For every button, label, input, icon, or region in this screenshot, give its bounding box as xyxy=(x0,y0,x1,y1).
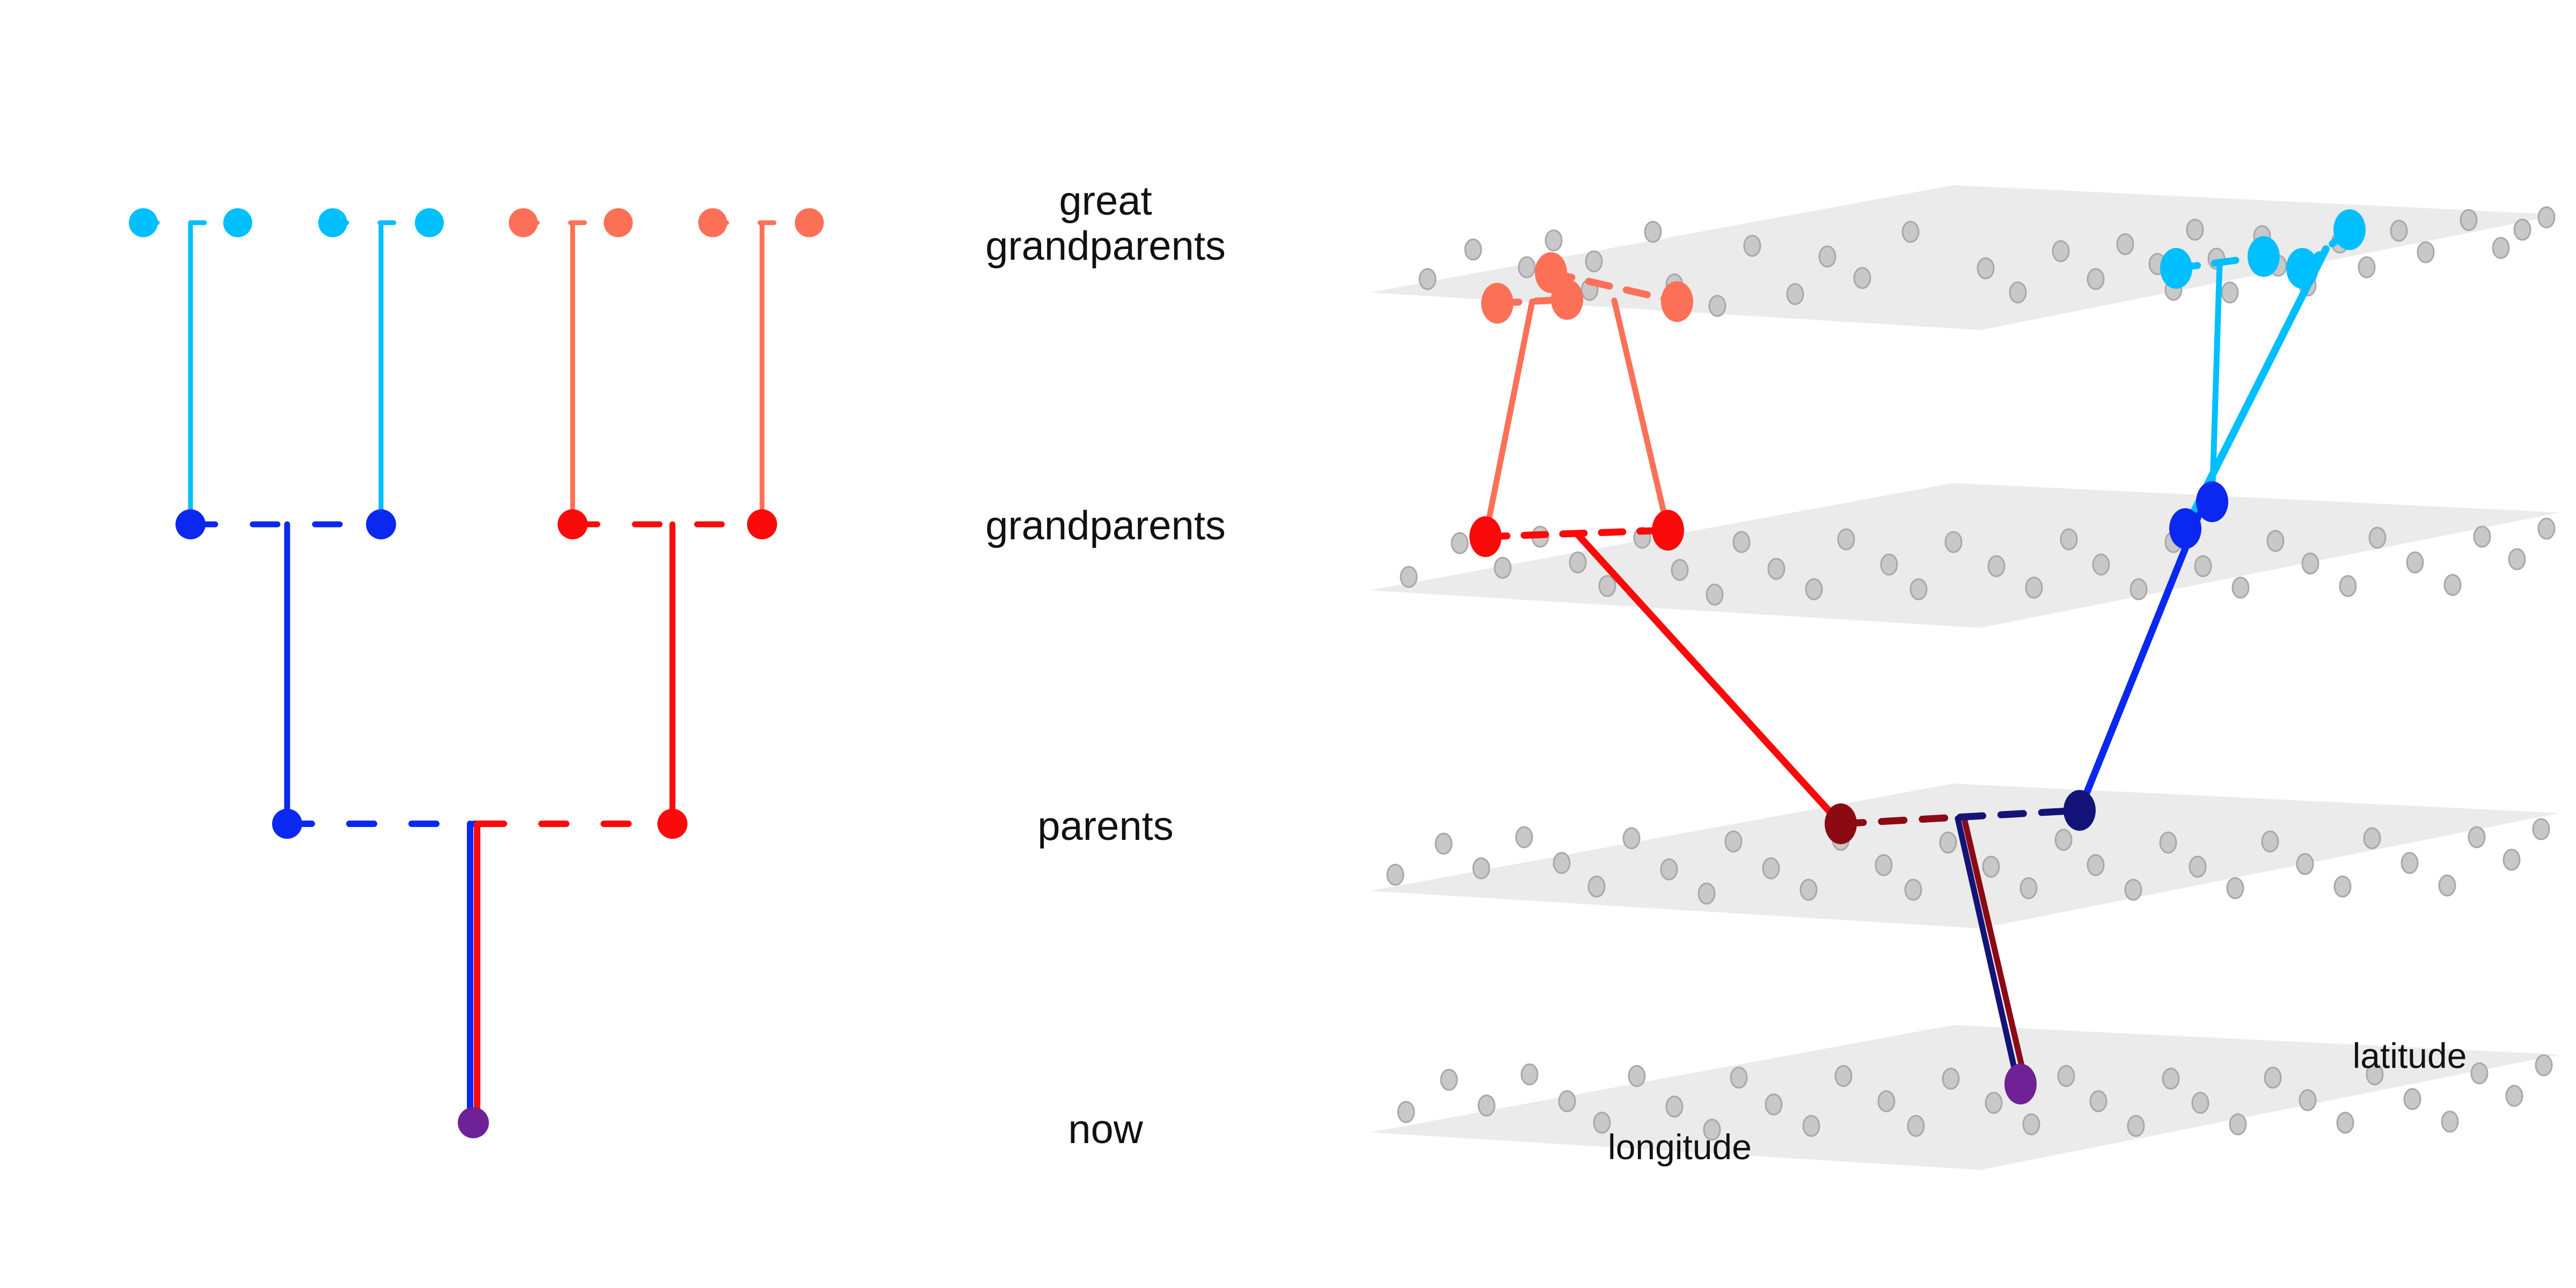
generation-label-now: now xyxy=(1068,1107,1144,1152)
background-population-dot xyxy=(1986,1093,2002,1113)
spatial-planes-layer xyxy=(1370,185,2560,1170)
background-population-dot xyxy=(1908,1116,1924,1136)
background-population-dot xyxy=(2514,219,2530,240)
background-population-dot xyxy=(2131,579,2147,599)
spatial-plane-grandparents xyxy=(1370,483,2560,628)
background-population-dot xyxy=(1731,1067,1747,1088)
background-population-dot xyxy=(1589,876,1605,897)
background-population-dot xyxy=(1521,1064,1538,1085)
background-population-dot xyxy=(2442,1111,2458,1132)
background-population-dot xyxy=(2471,1063,2487,1084)
background-population-dot xyxy=(1945,532,1962,552)
background-population-dot xyxy=(1978,258,1994,279)
background-population-dot xyxy=(2023,1114,2039,1135)
background-population-dot xyxy=(1902,222,1919,242)
background-population-dot xyxy=(1876,855,1892,875)
background-population-dot xyxy=(1988,556,2004,576)
background-population-dot xyxy=(2402,853,2418,873)
background-population-dot xyxy=(1940,832,1956,853)
background-population-dot xyxy=(2474,526,2490,547)
background-population-dot xyxy=(2128,1116,2144,1136)
background-population-dot xyxy=(2418,242,2434,262)
tree-node-great-grandparent[interactable] xyxy=(223,208,252,237)
tree-node-great-grandparent[interactable] xyxy=(318,208,347,237)
background-population-dot xyxy=(2195,556,2211,576)
background-population-dot xyxy=(1835,1066,1851,1086)
spatial-descent-line xyxy=(1614,301,1668,530)
background-population-dot xyxy=(1436,833,1452,854)
background-population-dot xyxy=(2493,238,2509,258)
figure-canvas: greatgrandparentsgrandparentsparentsnow … xyxy=(0,0,2576,1288)
background-population-dot xyxy=(1398,1102,1414,1122)
background-population-dot xyxy=(2469,827,2485,847)
spatial-ancestor-node-grandparents[interactable] xyxy=(2196,481,2228,522)
background-population-dot xyxy=(1905,880,1921,900)
spatial-ancestor-node-great-grandparents[interactable] xyxy=(2286,248,2318,289)
background-population-dot xyxy=(2021,878,2037,898)
background-population-dot xyxy=(2026,577,2042,598)
background-population-dot xyxy=(1645,222,1661,242)
spatial-ancestor-node-grandparents[interactable] xyxy=(1469,516,1502,557)
background-population-dot xyxy=(1707,584,1723,605)
background-population-dot xyxy=(1699,883,1715,904)
tree-node-grandparent[interactable] xyxy=(558,509,588,539)
background-population-dot xyxy=(2340,576,2356,596)
background-population-dot xyxy=(1546,230,1562,251)
spatial-ancestor-node-great-grandparents[interactable] xyxy=(2248,236,2280,277)
spatial-lineage-links-layer xyxy=(1485,230,2350,1084)
background-population-dot xyxy=(2192,1093,2208,1113)
background-population-dot xyxy=(2088,855,2104,875)
background-population-dot xyxy=(2190,857,2206,877)
background-population-dot xyxy=(2265,1067,2281,1088)
background-population-dot xyxy=(2359,257,2375,277)
background-population-dot xyxy=(2391,221,2407,241)
generation-label-great-grandparents: grandparents xyxy=(985,223,1226,269)
background-population-dot xyxy=(1803,1116,1819,1136)
background-population-dot xyxy=(1725,831,1741,852)
background-population-dot xyxy=(1661,859,1677,880)
background-population-dot xyxy=(2407,552,2423,573)
background-population-dot xyxy=(2445,575,2461,595)
background-population-dot xyxy=(2364,828,2380,848)
background-population-dot xyxy=(2055,830,2072,850)
tree-node-grandparent[interactable] xyxy=(175,509,206,539)
background-population-dot xyxy=(2300,1090,2316,1110)
spatial-ancestor-node-parents[interactable] xyxy=(1825,803,1857,844)
background-population-dot xyxy=(2125,880,2141,900)
background-population-dot xyxy=(1401,567,1417,587)
tree-node-parent[interactable] xyxy=(272,809,302,839)
tree-node-great-grandparent[interactable] xyxy=(698,208,727,237)
background-population-dot xyxy=(2262,831,2278,852)
background-population-dot xyxy=(1806,579,1822,599)
background-population-dot xyxy=(1768,559,1784,579)
tree-node-great-grandparent[interactable] xyxy=(129,208,158,237)
background-population-dot xyxy=(1419,269,1436,289)
background-population-dot xyxy=(1766,1094,1782,1115)
background-population-dot xyxy=(1666,1096,1682,1117)
background-population-dot xyxy=(1519,257,1535,277)
tree-node-now[interactable] xyxy=(458,1107,489,1138)
background-population-dots-layer xyxy=(1387,207,2555,1140)
tree-node-grandparent[interactable] xyxy=(747,509,777,539)
spatial-ancestor-node-great-grandparents[interactable] xyxy=(1535,252,1567,293)
generation-labels-layer: greatgrandparentsgrandparentsparentsnow xyxy=(985,178,1226,1152)
background-population-dot xyxy=(2267,531,2284,551)
background-population-dot xyxy=(2461,210,2477,230)
background-population-dot xyxy=(1911,579,1927,599)
background-population-dot xyxy=(2369,528,2385,548)
spatial-descent-line xyxy=(1485,302,1532,537)
background-population-dot xyxy=(2538,207,2555,228)
tree-node-parent[interactable] xyxy=(657,809,687,839)
background-population-dot xyxy=(1495,558,1511,578)
background-population-dot xyxy=(1452,533,1468,553)
background-population-dot xyxy=(2509,549,2525,569)
background-population-dot xyxy=(2010,282,2026,303)
generation-label-parents: parents xyxy=(1037,803,1174,849)
background-population-dot xyxy=(1629,1066,1645,1086)
background-population-dot xyxy=(2334,876,2351,897)
background-population-dot xyxy=(1570,552,1586,573)
background-population-dot xyxy=(2093,554,2109,575)
spatial-ancestor-node-great-grandparents[interactable] xyxy=(1481,283,1513,324)
background-population-dot xyxy=(1838,529,1854,550)
background-population-dot xyxy=(1441,1070,1457,1090)
spatial-ancestor-node-now[interactable] xyxy=(2004,1064,2037,1104)
background-population-dot xyxy=(1819,246,1835,267)
background-population-dot xyxy=(2088,269,2104,289)
tree-node-great-grandparent[interactable] xyxy=(509,208,538,237)
background-population-dot xyxy=(1586,251,1602,272)
background-population-dot xyxy=(1623,828,1640,848)
background-population-dot xyxy=(1878,1091,1894,1111)
tree-node-great-grandparent[interactable] xyxy=(795,208,824,237)
background-population-dot xyxy=(2536,1055,2552,1075)
tree-node-grandparent[interactable] xyxy=(366,509,396,539)
spatial-ancestor-node-parents[interactable] xyxy=(2063,790,2096,831)
background-population-dot xyxy=(2297,854,2313,874)
spatial-ancestor-node-great-grandparents[interactable] xyxy=(2160,248,2192,289)
spatial-ancestor-node-great-grandparents[interactable] xyxy=(2333,209,2366,250)
background-population-dot xyxy=(2061,529,2077,550)
background-population-dot xyxy=(2533,819,2549,839)
background-population-dot xyxy=(1599,576,1615,596)
spatial-ancestor-node-grandparents[interactable] xyxy=(2169,508,2201,549)
background-population-dot xyxy=(2058,1066,2074,1086)
background-population-dot xyxy=(1943,1069,1959,1089)
background-population-dot xyxy=(2337,1113,2353,1133)
background-population-dot xyxy=(1801,880,1817,900)
background-population-dot xyxy=(1733,532,1750,552)
background-population-dot xyxy=(1983,857,1999,877)
background-population-dot xyxy=(2538,518,2555,539)
background-population-dot xyxy=(2053,241,2069,261)
background-population-dot xyxy=(1516,827,1532,847)
background-population-dot xyxy=(1479,1095,1495,1116)
background-population-dot xyxy=(2117,234,2133,254)
background-population-dot xyxy=(1672,560,1688,580)
background-population-dot xyxy=(2439,875,2455,896)
tree-node-great-grandparent[interactable] xyxy=(415,208,444,237)
background-population-dot xyxy=(2090,1091,2106,1111)
background-population-dot xyxy=(1554,853,1570,873)
background-population-dot xyxy=(2160,832,2176,853)
background-population-dot xyxy=(1854,268,1870,288)
background-population-dot xyxy=(1744,236,1760,256)
tree-node-great-grandparent[interactable] xyxy=(604,208,633,237)
pedigree-tree-layer xyxy=(129,208,824,1138)
background-population-dot xyxy=(1787,284,1803,304)
background-population-dot xyxy=(1709,296,1725,316)
background-population-dot xyxy=(2506,1086,2522,1106)
spatial-ancestor-node-grandparents[interactable] xyxy=(1652,510,1684,551)
generation-label-grandparents: grandparents xyxy=(985,503,1226,548)
background-population-dot xyxy=(2233,577,2249,598)
background-population-dot xyxy=(2163,1069,2179,1089)
axis-label-longitude: longitude xyxy=(1608,1127,1752,1167)
background-population-dot xyxy=(1473,858,1489,879)
axis-label-latitude: latitude xyxy=(2353,1036,2467,1075)
background-population-dot xyxy=(1881,554,1897,575)
figure-root: greatgrandparentsgrandparentsparentsnow … xyxy=(0,0,2576,1288)
background-population-dot xyxy=(2302,553,2318,574)
background-population-dot xyxy=(1387,865,1403,885)
spatial-ancestor-nodes-layer xyxy=(1469,209,2366,1104)
background-population-dot xyxy=(2222,282,2238,303)
background-population-dot xyxy=(2227,878,2243,898)
background-population-dot xyxy=(1763,858,1779,879)
generation-label-great-grandparents: great xyxy=(1059,178,1152,224)
background-population-dot xyxy=(1559,1091,1575,1111)
background-population-dot xyxy=(2230,1114,2246,1135)
spatial-ancestor-node-great-grandparents[interactable] xyxy=(1661,281,1693,322)
background-population-dot xyxy=(2404,1089,2420,1109)
background-population-dot xyxy=(1465,239,1481,260)
background-population-dot xyxy=(2504,850,2520,870)
background-population-dot xyxy=(2187,219,2203,240)
